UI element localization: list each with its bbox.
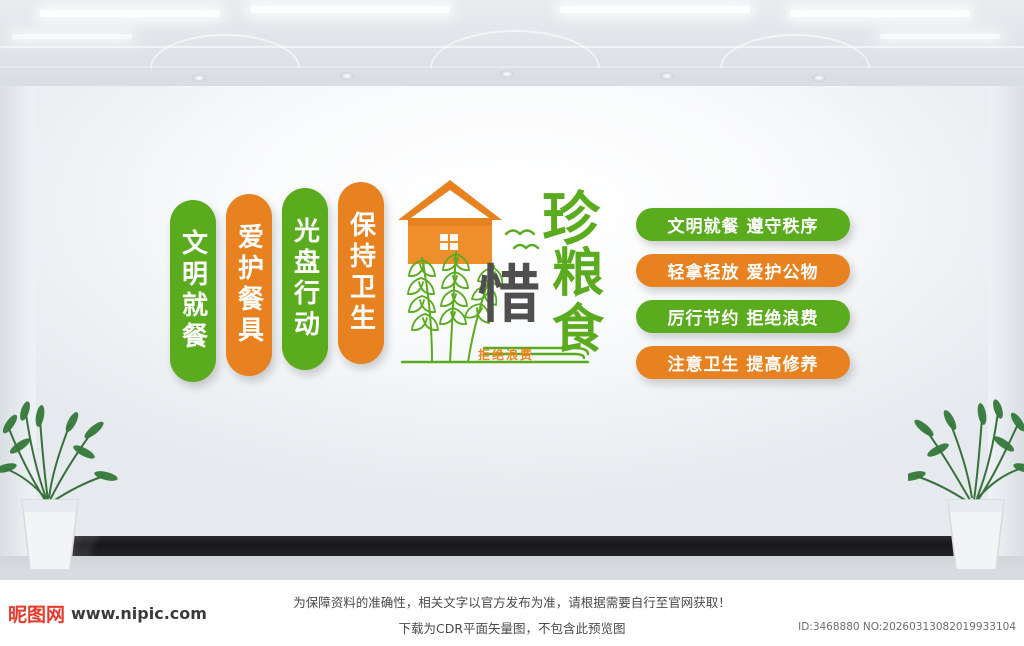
vertical-pill-3: 光盘行动 [282,188,328,370]
ceiling-light-strip [880,34,1000,39]
downlight-icon [340,72,354,80]
headline-char-2: 惜 [478,264,540,326]
horizontal-pill-3: 厉行节约 拒绝浪费 [636,300,850,333]
horizontal-pill-2: 轻拿轻放 爱护公物 [636,254,850,287]
asset-id-text: ID:3468880 NO:20260313082019933104 [798,621,1016,633]
downlight-icon [500,70,514,78]
downlight-icon [192,74,206,82]
watermark-logo-text: 昵图网 [8,600,65,627]
vertical-pill-2: 爱护餐具 [226,194,272,376]
vertical-pill-2-label: 爱护餐具 [231,223,268,347]
horizontal-pill-1-label: 文明就餐 遵守秩序 [668,212,819,237]
downlight-icon [660,72,674,80]
ceiling-light-strip [560,6,750,13]
ceiling-arc [430,30,600,68]
vertical-pill-1-label: 文明就餐 [175,229,212,353]
headline-char-3: 粮 [552,248,604,300]
watermark-url: www.nipic.com [71,604,207,623]
downlight-icon [812,74,826,82]
ceiling-light-strip [12,34,132,39]
headline-char-4: 食 [552,304,604,356]
headline-char-1: 珍 [542,190,600,248]
baseboard [36,536,988,558]
horizontal-pill-3-label: 厉行节约 拒绝浪费 [668,304,819,329]
vertical-pill-1: 文明就餐 [170,200,216,382]
ceiling-arc [720,34,870,68]
house-icon [398,180,502,264]
birds-icon [506,231,538,249]
ceiling-light-strip [790,10,970,17]
site-watermark: 昵图网 www.nipic.com [8,600,207,627]
horizontal-pill-2-label: 轻拿轻放 爱护公物 [668,258,819,283]
screenshot-root: 文明就餐 爱护餐具 光盘行动 保持卫生 [0,0,1024,646]
plant-left [0,380,120,580]
horizontal-pill-4-label: 注意卫生 提高修养 [668,350,819,375]
headline-subtitle: 拒绝浪费 [478,346,534,363]
wall-decal-artwork: 文明就餐 爱护餐具 光盘行动 保持卫生 [170,170,870,390]
plant-right [908,380,1024,580]
horizontal-pill-4: 注意卫生 提高修养 [636,346,850,379]
horizontal-pill-1: 文明就餐 遵守秩序 [636,208,850,241]
vertical-pill-3-label: 光盘行动 [287,217,324,341]
vertical-pill-4: 保持卫生 [338,182,384,364]
ceiling-light-strip [250,6,450,13]
vertical-pill-4-label: 保持卫生 [343,211,380,335]
ceiling-arc [150,34,300,68]
ceiling [0,0,1024,92]
ceiling-light-strip [40,10,220,17]
